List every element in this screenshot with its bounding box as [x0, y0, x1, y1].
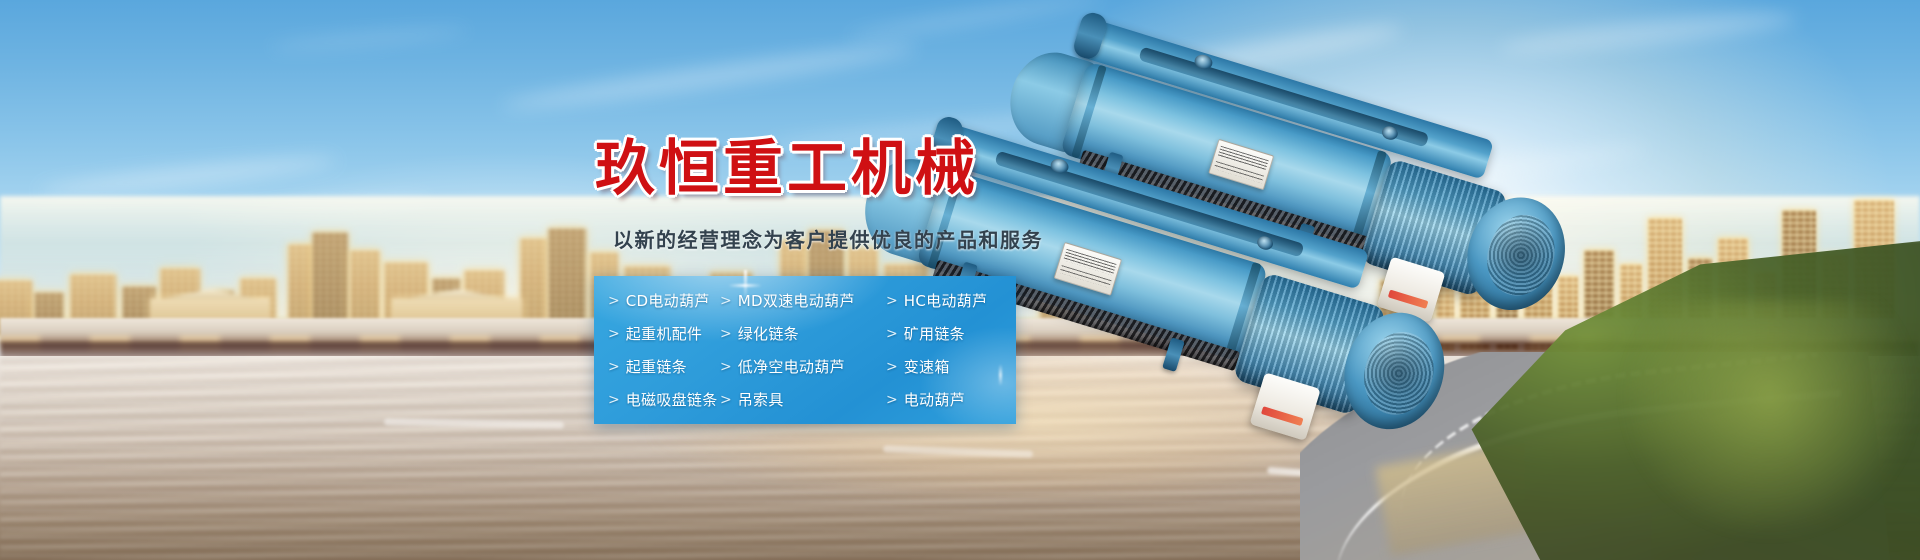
product-link-label: 矿用链条 — [904, 323, 965, 344]
product-link-label: CD电动葫芦 — [626, 290, 710, 311]
chevron-right-icon: > — [608, 393, 620, 407]
product-link-hc-hoist[interactable]: > HC电动葫芦 — [860, 290, 1016, 311]
product-link-cd-hoist[interactable]: > CD电动葫芦 — [608, 290, 720, 311]
product-link-label: 变速箱 — [904, 356, 950, 377]
product-link-label: 电动葫芦 — [904, 389, 965, 410]
product-link-label: MD双速电动葫芦 — [738, 290, 855, 311]
chevron-right-icon: > — [608, 294, 620, 308]
chevron-right-icon: > — [720, 294, 732, 308]
product-link-label: 电磁吸盘链条 — [626, 389, 718, 410]
product-link-mining-chain[interactable]: > 矿用链条 — [860, 323, 1016, 344]
chevron-right-icon: > — [886, 360, 898, 374]
product-link-label: 吊索具 — [738, 389, 784, 410]
product-links-grid: > CD电动葫芦 > MD双速电动葫芦 > HC电动葫芦 > 起重机配件 > 绿… — [594, 276, 1016, 424]
promo-banner: 玖恒重工机械 以新的经营理念为客户提供优良的产品和服务 > CD电动葫芦 > M… — [0, 0, 1920, 560]
product-links-panel: > CD电动葫芦 > MD双速电动葫芦 > HC电动葫芦 > 起重机配件 > 绿… — [594, 276, 1016, 424]
banner-subheadline: 以新的经营理念为客户提供优良的产品和服务 — [613, 224, 1043, 253]
chevron-right-icon: > — [886, 393, 898, 407]
chevron-right-icon: > — [886, 327, 898, 341]
banner-headline: 玖恒重工机械 — [595, 120, 979, 207]
product-link-label: 起重链条 — [626, 356, 687, 377]
chevron-right-icon: > — [720, 327, 732, 341]
product-link-gearbox[interactable]: > 变速箱 — [860, 356, 1016, 377]
product-link-crane-parts[interactable]: > 起重机配件 — [608, 323, 720, 344]
product-link-slings[interactable]: > 吊索具 — [720, 389, 860, 410]
product-link-lifting-chain[interactable]: > 起重链条 — [608, 356, 720, 377]
product-link-magnetic-chuck-chain[interactable]: > 电磁吸盘链条 — [608, 389, 720, 410]
chevron-right-icon: > — [720, 360, 732, 374]
product-link-md-dual-speed-hoist[interactable]: > MD双速电动葫芦 — [720, 290, 860, 311]
chevron-right-icon: > — [886, 294, 898, 308]
chevron-right-icon: > — [608, 360, 620, 374]
junction-box-label — [1261, 407, 1303, 426]
product-link-electric-hoist[interactable]: > 电动葫芦 — [860, 389, 1016, 410]
product-link-label: HC电动葫芦 — [904, 290, 988, 311]
product-link-label: 绿化链条 — [738, 323, 799, 344]
product-link-low-headroom-hoist[interactable]: > 低净空电动葫芦 — [720, 356, 860, 377]
chevron-right-icon: > — [720, 393, 732, 407]
chevron-right-icon: > — [608, 327, 620, 341]
product-link-label: 低净空电动葫芦 — [738, 356, 845, 377]
product-link-greening-chain[interactable]: > 绿化链条 — [720, 323, 860, 344]
product-link-label: 起重机配件 — [626, 323, 703, 344]
